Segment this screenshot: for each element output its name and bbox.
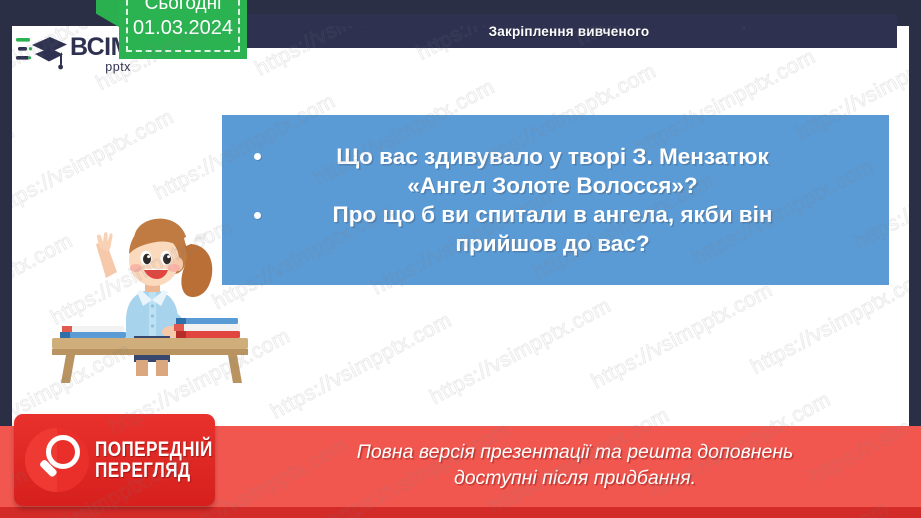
preview-badge-line1: ПОПЕРЕДНІЙ [95, 439, 213, 460]
question-line: Про що б ви спитали в ангела, якби він [232, 200, 873, 229]
watermark-text: https://vsimpptx.com [426, 294, 615, 409]
watermark-text: https://vsimpptx.com [12, 105, 178, 220]
question-line: прийшов до вас? [232, 229, 873, 258]
watermark-text: https://vsimpptx.com [908, 248, 909, 363]
preview-badge-label: ПОПЕРЕДНІЙ ПЕРЕГЛЯД [95, 439, 213, 482]
slide: https://vsimpptx.comhttps://vsimpptx.com… [0, 0, 921, 518]
watermark-text: https://vsimpptx.com [588, 278, 777, 393]
date-label: Сьогодні [145, 0, 222, 16]
question-line: «Ангел Золоте Волосся»? [232, 171, 873, 200]
page-title: Закріплення вивченого [489, 24, 650, 39]
bullet-icon [254, 153, 261, 160]
slide-header-bar: Закріплення вивченого [241, 14, 897, 48]
question-text: Про що б ви спитали в ангела, якби він [333, 202, 773, 227]
watermark-text: https://vsimpptx.com [12, 120, 18, 235]
date-value: 01.03.2024 [133, 16, 233, 42]
purchase-banner-line2: доступні після придбання. [240, 466, 910, 492]
question-line: Що вас здивувало у творі З. Мензатюк [232, 142, 873, 171]
purchase-banner-text: Повна версія презентації та решта доповн… [240, 440, 910, 492]
watermark-text: https://vsimpptx.com [267, 309, 456, 424]
preview-badge[interactable]: ПОПЕРЕДНІЙ ПЕРЕГЛЯД [14, 414, 215, 506]
logo-subtitle: pptx [70, 61, 131, 74]
question-text: Що вас здивувало у творі З. Мензатюк [336, 144, 769, 169]
purchase-banner-line1: Повна версія презентації та решта доповн… [240, 440, 910, 466]
magnifier-icon [23, 426, 91, 494]
date-badge: Сьогодні 01.03.2024 [119, 0, 247, 59]
question-text: прийшов до вас? [455, 231, 649, 256]
brand-logo: ВСІМ pptx [12, 26, 128, 83]
question-content-box: Що вас здивувало у творі З. Мензатюк «Ан… [222, 115, 889, 285]
question-text: «Ангел Золоте Волосся»? [407, 173, 697, 198]
bullet-icon [254, 212, 261, 219]
graduation-cap-icon [16, 32, 68, 76]
preview-badge-line2: ПЕРЕГЛЯД [95, 460, 213, 481]
